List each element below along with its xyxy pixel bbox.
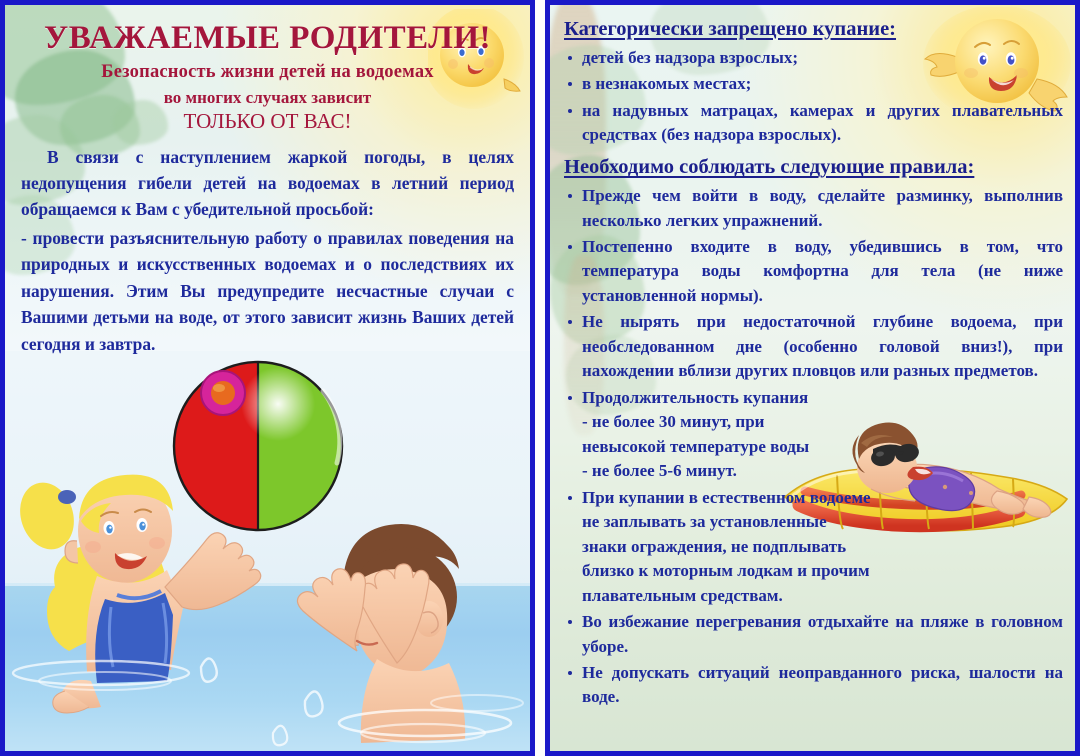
left-text-content: УВАЖАЕМЫЕ РОДИТЕЛИ! Безопасность жизни д… xyxy=(5,5,530,357)
page-title: УВАЖАЕМЫЕ РОДИТЕЛИ! xyxy=(21,21,514,56)
heading-rules: Необходимо соблюдать следующие правила: xyxy=(564,155,1063,180)
left-paragraph-1: В связи с наступлением жаркой погоды, в … xyxy=(21,144,514,223)
list-item: Постепенно входите в воду, убедившись в … xyxy=(564,235,1063,308)
children-beach-ball-scene xyxy=(5,351,530,751)
left-illustration xyxy=(5,351,530,751)
list-item: в незнакомых местах; xyxy=(564,72,1063,96)
heading-prohibited: Категорически запрещено купание: xyxy=(564,17,1063,42)
right-text-content: Категорически запрещено купание: детей б… xyxy=(550,5,1075,710)
rules-list: Прежде чем войти в воду, сделайте размин… xyxy=(564,184,1063,710)
prohibited-list: детей без надзора взрослых; в незнакомых… xyxy=(564,46,1063,148)
left-panel: УВАЖАЕМЫЕ РОДИТЕЛИ! Безопасность жизни д… xyxy=(0,0,535,756)
list-item: Прежде чем войти в воду, сделайте размин… xyxy=(564,184,1063,233)
list-item: Не допускать ситуаций неоправданного рис… xyxy=(564,661,1063,710)
title-subtitle-1: Безопасность жизни детей на водоемах xyxy=(21,62,514,83)
left-paragraph-2: - провести разъяснительную работу о прав… xyxy=(21,225,514,357)
list-item: Не нырять при недостаточной глубине водо… xyxy=(564,310,1063,383)
title-subtitle-3: ТОЛЬКО ОТ ВАС! xyxy=(21,110,514,133)
right-panel: Категорически запрещено купание: детей б… xyxy=(545,0,1080,756)
list-item: Во избежание перегревания отдыхайте на п… xyxy=(564,610,1063,659)
list-item: Продолжительность купания - не более 30 … xyxy=(564,386,1063,484)
water-splash-decoration xyxy=(201,658,323,745)
title-subtitle-2: во многих случаях зависит xyxy=(21,88,514,108)
poster-root: УВАЖАЕМЫЕ РОДИТЕЛИ! Безопасность жизни д… xyxy=(0,0,1080,756)
list-item: на надувных матрацах, камерах и других п… xyxy=(564,99,1063,148)
list-item: При купании в естественном водоеме не за… xyxy=(564,486,1063,608)
list-item: детей без надзора взрослых; xyxy=(564,46,1063,70)
boy-figure xyxy=(297,524,523,743)
